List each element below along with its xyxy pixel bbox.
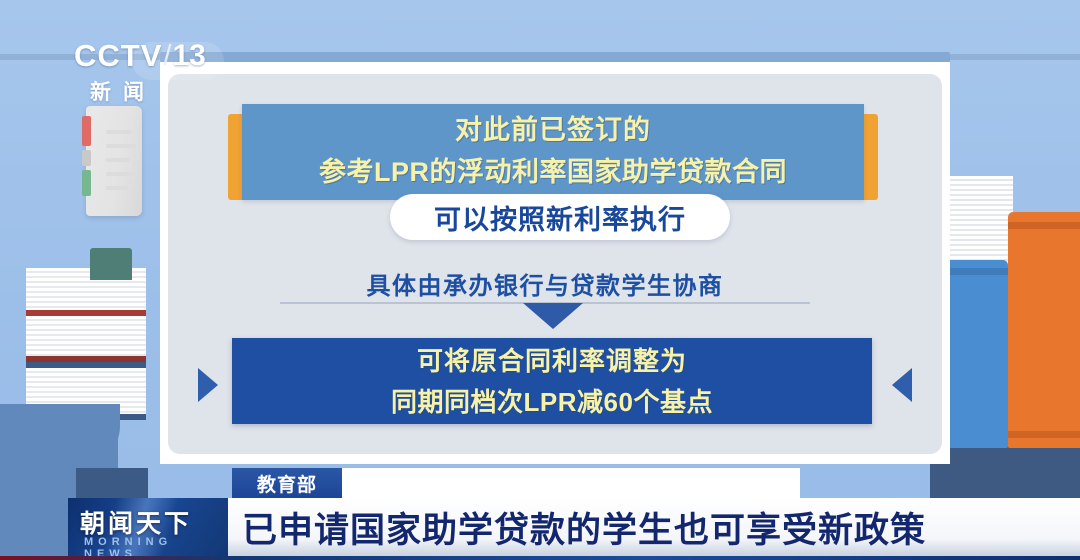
highlight-pill-text: 可以按照新利率执行: [434, 198, 686, 237]
bookmark-tab-red: [82, 116, 91, 146]
bookmark-tab-gray: [82, 150, 91, 166]
channel-number: 13: [172, 39, 205, 73]
top-statement-block: 对此前已签订的 参考LPR的浮动利率国家助学贷款合同: [228, 104, 878, 204]
arrow-left-icon: [892, 368, 912, 402]
arrow-right-icon: [198, 368, 218, 402]
source-tag: 教育部: [232, 468, 342, 498]
program-logo-box: 朝闻天下 MORNING NEWS: [68, 498, 228, 560]
highlight-pill: 可以按照新利率执行: [390, 194, 730, 240]
notebook-line: [106, 172, 136, 176]
channel-name: CCTV: [74, 38, 162, 74]
book-cap: [1008, 222, 1080, 229]
panel-inner-surface: 对此前已签订的 参考LPR的浮动利率国家助学贷款合同 可以按照新利率执行 具体由…: [168, 74, 942, 454]
reader-silhouette-arm: [0, 404, 120, 466]
notebook-line: [106, 144, 136, 148]
mid-note-text: 具体由承办银行与贷款学生协商: [280, 266, 810, 301]
channel-subtitle: 新闻: [90, 76, 224, 106]
upright-book-orange: [1008, 212, 1080, 448]
book-pages: [26, 316, 146, 356]
arrow-down-icon: [523, 303, 583, 329]
source-tag-label: 教育部: [257, 470, 317, 497]
notebook-line: [106, 130, 132, 134]
top-statement-line2: 参考LPR的浮动利率国家助学贷款合同: [242, 152, 864, 192]
notebook-line: [106, 186, 128, 190]
conclusion-box: 可将原合同利率调整为 同期同档次LPR减60个基点: [232, 338, 872, 424]
banner-corner-accent: [1012, 468, 1080, 498]
book-cap: [1008, 431, 1080, 438]
lower-third-banner: 教育部 已申请国家助学贷款的学生也可享受新政策 朝闻天下 MORNING NEW…: [0, 468, 1080, 560]
conclusion-line1: 可将原合同利率调整为: [232, 338, 872, 382]
banner-band: 已申请国家助学贷款的学生也可享受新政策 朝闻天下 MORNING NEWS: [0, 498, 1080, 560]
source-tag-background: [342, 468, 800, 498]
conclusion-line2: 同期同档次LPR减60个基点: [232, 382, 872, 422]
notebook-line: [106, 158, 130, 162]
infographic-panel: 对此前已签订的 参考LPR的浮动利率国家助学贷款合同 可以按照新利率执行 具体由…: [160, 52, 950, 464]
banner-underline: [0, 556, 1080, 560]
channel-logo: CCTV / 13 新闻: [74, 38, 224, 110]
top-statement-line1: 对此前已签订的: [242, 104, 864, 152]
top-statement-box: 对此前已签订的 参考LPR的浮动利率国家助学贷款合同: [242, 104, 864, 200]
bookmark-tab-green: [82, 170, 91, 196]
headline-container: 已申请国家助学贷款的学生也可享受新政策: [228, 498, 1080, 556]
program-name-cn: 朝闻天下: [80, 504, 192, 540]
channel-separator: /: [163, 40, 171, 73]
notebook-graphic: [86, 106, 142, 216]
headline-text: 已申请国家助学贷款的学生也可享受新政策: [228, 502, 926, 553]
upright-book-teal: [90, 248, 132, 280]
